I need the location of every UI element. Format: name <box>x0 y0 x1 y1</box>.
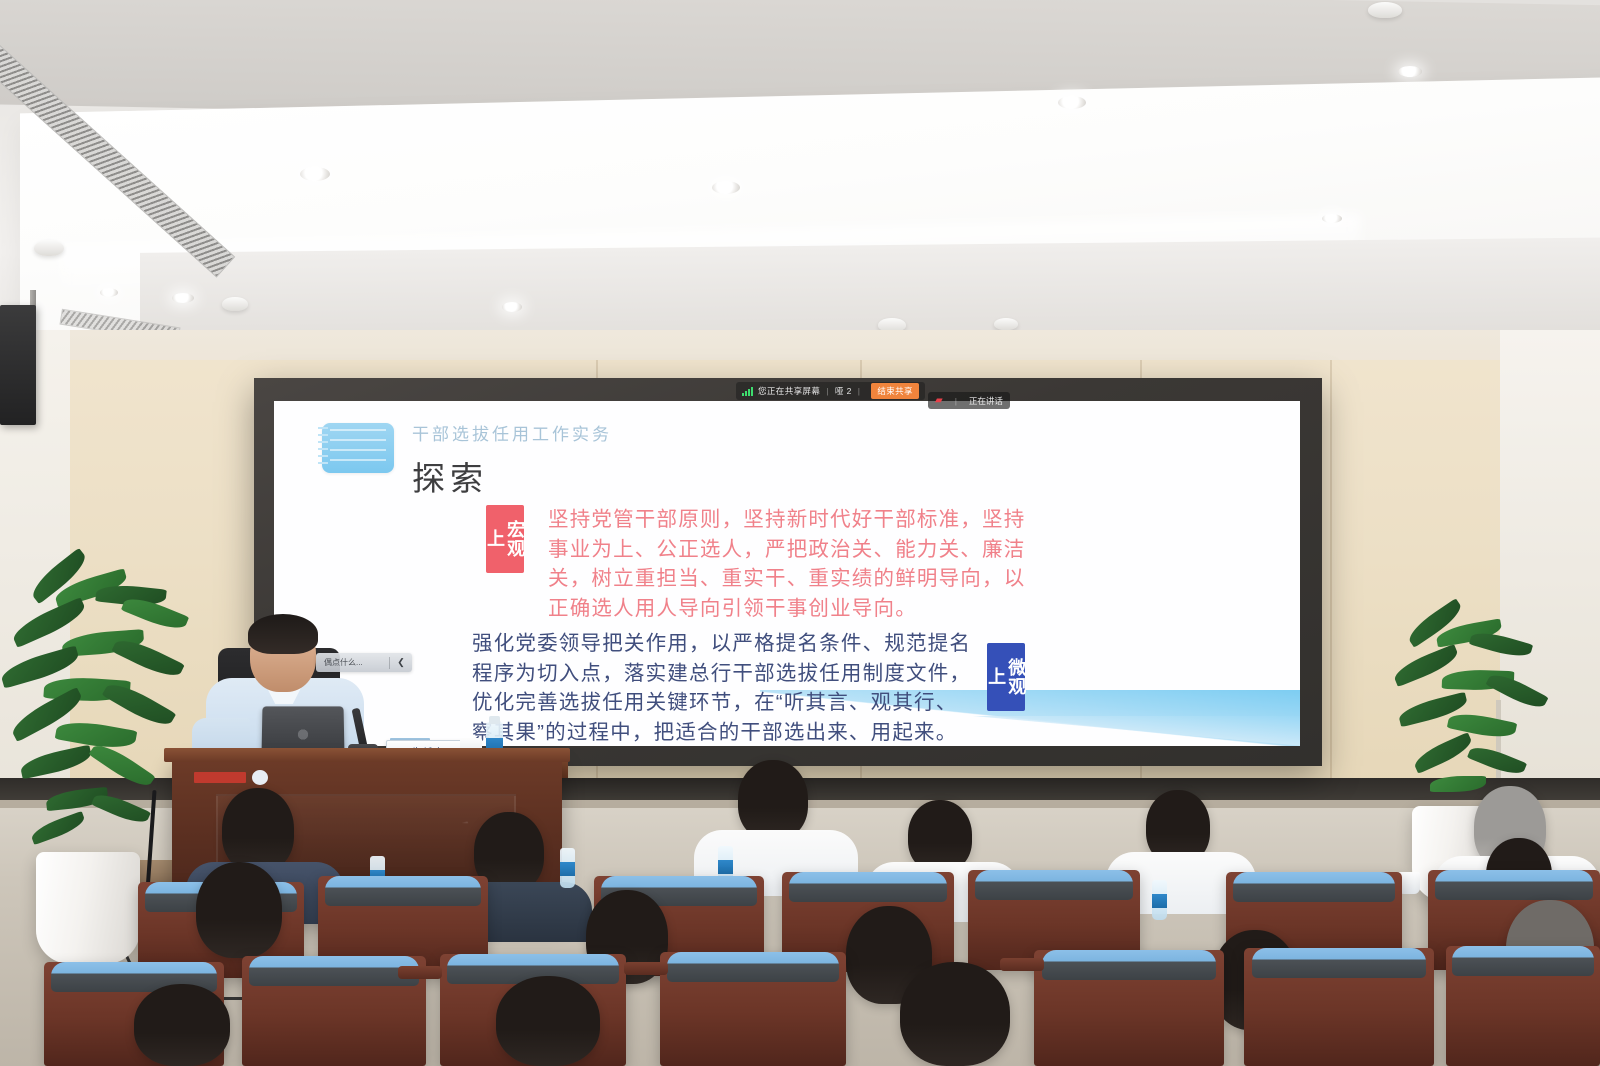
recessed-downlight-icon <box>1058 96 1086 109</box>
speaking-label: 正在讲话 <box>969 395 1003 407</box>
seat-cushion <box>1042 950 1217 980</box>
seat-cushion <box>1252 948 1427 978</box>
seat-armrest <box>1000 958 1044 971</box>
share-icon[interactable]: ❮ <box>390 657 412 668</box>
slide-line: 强化党委领导把关作用，以严格提名条件、规范提名 <box>472 629 971 659</box>
seat-armrest <box>398 966 442 979</box>
smoke-detector-icon <box>34 240 64 256</box>
macbook-laptop[interactable] <box>262 706 345 754</box>
bottle-cap <box>489 716 500 724</box>
audience-head <box>900 962 1010 1066</box>
audience-seat[interactable] <box>660 952 846 1066</box>
recessed-downlight-icon <box>100 288 118 297</box>
badge-macro: 宏观上 <box>486 505 524 573</box>
seat-armrest <box>624 962 668 975</box>
water-bottle <box>1152 880 1167 920</box>
smoke-detector-icon <box>994 318 1018 330</box>
annotation-text: 偶点什么... <box>316 657 389 668</box>
audience-head <box>134 984 230 1066</box>
plant-pot-left <box>36 852 140 964</box>
slide-line: 正确选人用人导向引领干事创业导向。 <box>548 594 1025 624</box>
presenter-hair <box>248 614 318 654</box>
seat-cushion <box>1435 870 1593 900</box>
podium-top <box>164 748 570 762</box>
smoke-detector-icon <box>1368 2 1402 18</box>
audience-head <box>196 862 282 958</box>
smoke-detector-icon <box>222 297 248 311</box>
slide-kicker: 干部选拔任用工作实务 <box>412 426 612 443</box>
audience-head <box>738 760 808 840</box>
slide-block-macro: 宏观上 坚持党管干部原则，坚持新时代好干部标准，坚持 事业为上、公正选人，严把政… <box>486 505 1186 623</box>
institution-logo-icon <box>194 772 246 783</box>
seat-cushion <box>325 876 481 906</box>
scene-root: 干部选拔任用工作实务 探索 宏观上 坚持党管干部原则，坚持新时代好干部标准，坚持… <box>0 0 1600 1066</box>
slide-line: 察其果”的过程中，把适合的干部选出来、用起来。 <box>472 718 971 746</box>
recessed-downlight-icon <box>502 302 522 312</box>
divider: | <box>826 386 829 396</box>
seat-cushion <box>249 956 418 986</box>
slide-line: 坚持党管干部原则，坚持新时代好干部标准，坚持 <box>548 505 1025 535</box>
slide-text-macro: 坚持党管干部原则，坚持新时代好干部标准，坚持 事业为上、公正选人，严把政治关、能… <box>548 505 1025 623</box>
slide-line: 程序为切入点，落实建总行干部选拔任用制度文件， <box>472 659 971 689</box>
audience-seat[interactable] <box>1244 948 1434 1066</box>
audience-head <box>222 788 294 872</box>
led-display-screen: 干部选拔任用工作实务 探索 宏观上 坚持党管干部原则，坚持新时代好干部标准，坚持… <box>254 378 1322 766</box>
recessed-downlight-icon <box>1398 66 1422 77</box>
signal-bars-icon <box>742 387 753 396</box>
seat-cushion <box>975 870 1133 900</box>
seat-cushion <box>1233 872 1395 902</box>
seat-cushion <box>667 952 838 982</box>
slide-canvas: 干部选拔任用工作实务 探索 宏观上 坚持党管干部原则，坚持新时代好干部标准，坚持… <box>274 401 1300 746</box>
recessed-downlight-icon <box>172 293 194 303</box>
screen-share-toolbar[interactable]: 您正在共享屏幕 | 哑 2 | 结束共享 <box>736 382 925 400</box>
stop-share-button[interactable]: 结束共享 <box>871 383 919 399</box>
wall-right-column <box>1500 330 1600 810</box>
slide-text-micro: 强化党委领导把关作用，以严格提名条件、规范提名 程序为切入点，落实建总行干部选拔… <box>472 629 971 746</box>
ceiling <box>0 0 1600 360</box>
institution-emblem-icon <box>252 770 268 785</box>
badge-micro: 微观上 <box>987 643 1025 711</box>
audience-seat[interactable] <box>1446 946 1600 1066</box>
icon-ticks <box>318 427 328 469</box>
seat-cushion <box>789 872 947 902</box>
recessed-downlight-icon <box>300 167 330 181</box>
slide-line: 优化完善选拔任用关键环节，在“听其言、观其行、 <box>472 688 971 718</box>
document-lines-icon <box>322 423 394 473</box>
mute-label[interactable]: 哑 2 <box>835 385 852 397</box>
divider: | <box>955 396 957 406</box>
slide-title: 探索 <box>412 452 612 500</box>
recessed-downlight-icon <box>1322 214 1342 223</box>
slide-line: 事业为上、公正选人，严把政治关、能力关、廉洁 <box>548 535 1025 565</box>
speaking-indicator-bar: ▰ | 正在讲话 <box>928 392 1010 409</box>
recessed-downlight-icon <box>712 181 740 194</box>
wood-seam <box>1330 360 1332 800</box>
divider: | <box>858 386 861 396</box>
slide-block-micro: 强化党委领导把关作用，以严格提名条件、规范提名 程序为切入点，落实建总行干部选拔… <box>472 629 1192 746</box>
sharing-status-label: 您正在共享屏幕 <box>758 385 820 397</box>
water-bottle <box>560 848 575 888</box>
slide-header: 干部选拔任用工作实务 探索 <box>322 423 612 500</box>
audience-head <box>496 976 600 1066</box>
seat-cushion <box>1452 946 1594 976</box>
audience-seat[interactable] <box>1034 950 1224 1066</box>
slide-line: 关，树立重担当、重实干、重实绩的鲜明导向，以 <box>548 564 1025 594</box>
annotation-widget[interactable]: 偶点什么... ❮ <box>316 653 412 672</box>
wall-speaker-icon <box>0 305 36 425</box>
microphone-icon: ▰ <box>935 395 943 406</box>
